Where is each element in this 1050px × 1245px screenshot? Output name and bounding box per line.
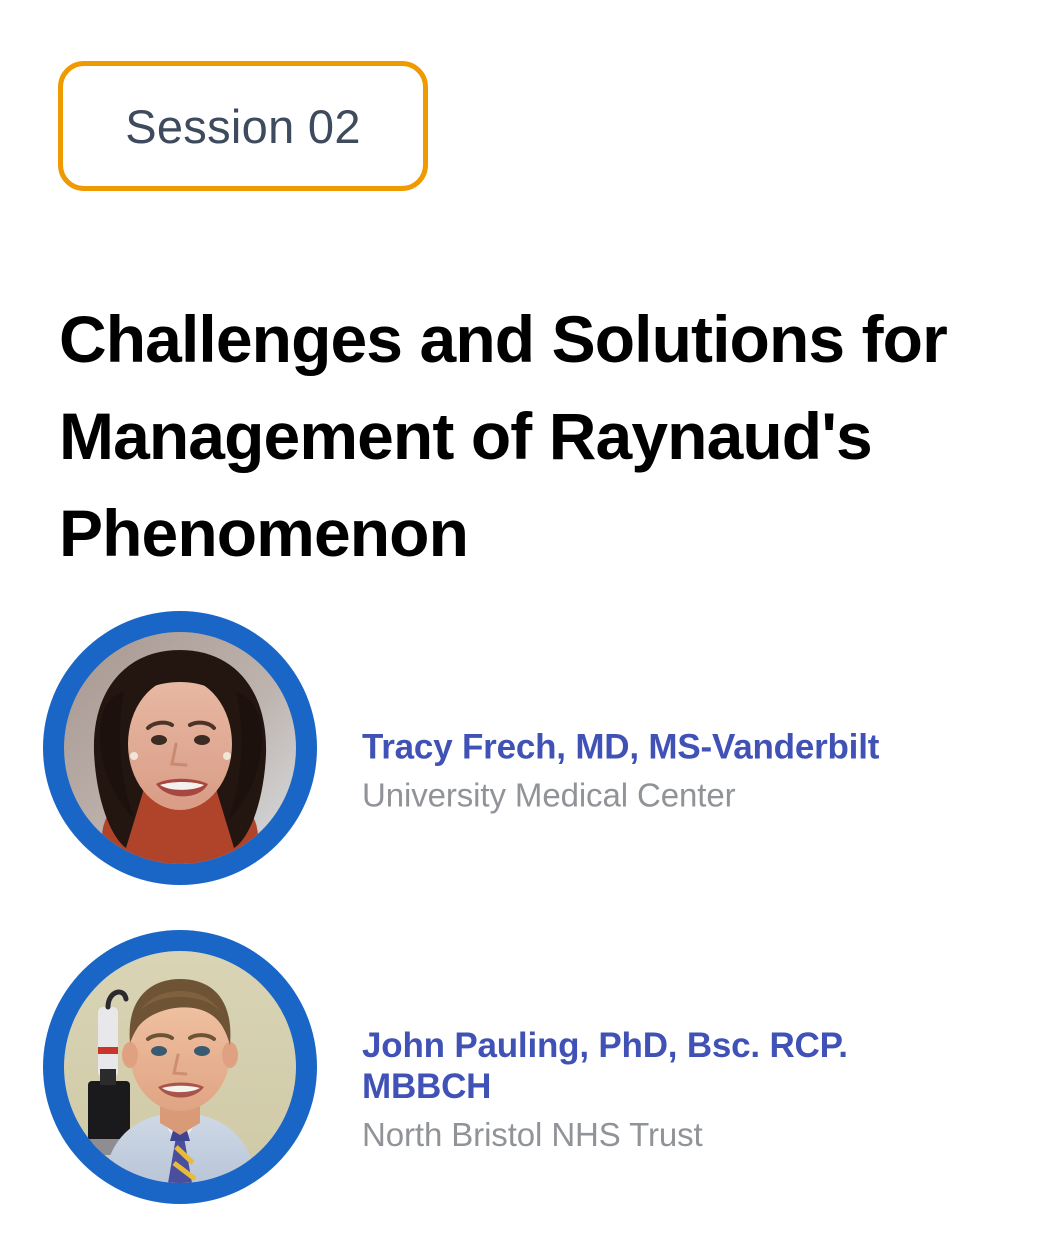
speaker-row[interactable]: Tracy Frech, MD, MS-Vanderbilt Universit…	[0, 611, 1050, 930]
speaker-info: John Pauling, PhD, Bsc. RCP. MBBCH North…	[362, 1025, 982, 1155]
speaker-name: Tracy Frech, MD, MS-Vanderbilt	[362, 726, 982, 767]
session-badge: Session 02	[58, 61, 428, 191]
avatar	[64, 632, 296, 864]
speaker-info: Tracy Frech, MD, MS-Vanderbilt Universit…	[362, 726, 982, 815]
avatar	[64, 951, 296, 1183]
session-title: Challenges and Solutions for Management …	[59, 291, 959, 582]
speaker-affiliation: University Medical Center	[362, 775, 982, 815]
speaker-affiliation: North Bristol NHS Trust	[362, 1115, 982, 1155]
speaker-row[interactable]: John Pauling, PhD, Bsc. RCP. MBBCH North…	[0, 930, 1050, 1245]
session-badge-label: Session 02	[125, 103, 361, 150]
speaker-list: Tracy Frech, MD, MS-Vanderbilt Universit…	[0, 611, 1050, 1245]
speaker-name: John Pauling, PhD, Bsc. RCP. MBBCH	[362, 1025, 982, 1107]
avatar-ring	[43, 611, 317, 885]
avatar-ring	[43, 930, 317, 1204]
session-card: Session 02 Challenges and Solutions for …	[0, 0, 1050, 1245]
